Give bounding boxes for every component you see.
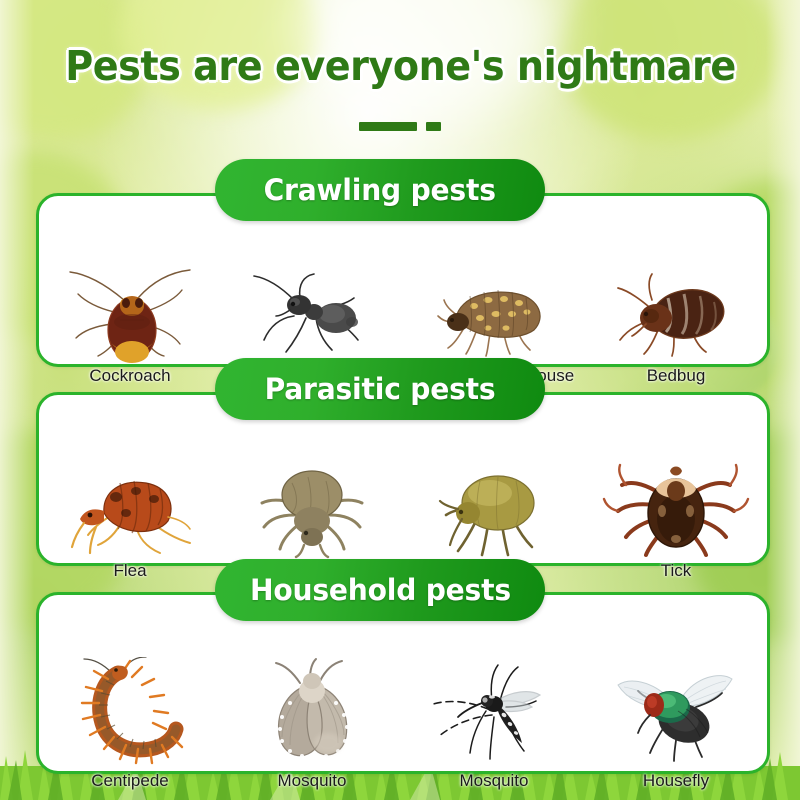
louse-icon: [232, 455, 392, 559]
pest-item-mothfly[interactable]: Mosquito: [221, 623, 403, 799]
pest-label: Flea: [113, 561, 146, 581]
poster-title-wrap: Pests are everyone's nightmare: [0, 44, 800, 88]
pest-label: Mosquito: [278, 771, 347, 791]
moth-fly-icon: [232, 657, 392, 769]
centipede-icon: [50, 657, 210, 769]
pest-label: Tick: [661, 561, 692, 581]
divider-dash-long: [359, 122, 417, 131]
section-heading-crawling[interactable]: Crawling pests: [215, 159, 545, 221]
title-divider: [0, 118, 800, 136]
section-heading-label: Crawling pests: [264, 173, 496, 207]
pest-label: Cockroach: [89, 366, 170, 386]
housefly-icon: [596, 657, 756, 769]
pest-item-tick[interactable]: Tick: [585, 421, 767, 589]
cockroach-icon: [50, 260, 210, 364]
pest-label: Centipede: [91, 771, 169, 791]
pest-item-flea[interactable]: Flea: [39, 421, 221, 589]
bedbug-icon: [596, 260, 756, 364]
tick-icon: [596, 455, 756, 559]
pest-item-mosquito[interactable]: Mosquito: [403, 623, 585, 799]
pest-item-housefly[interactable]: Housefly: [585, 623, 767, 799]
section-heading-parasitic[interactable]: Parasitic pests: [215, 358, 545, 420]
pest-infographic-poster: Pests are everyone's nightmare: [0, 0, 800, 800]
section-heading-label: Parasitic pests: [265, 372, 496, 406]
section-heading-household[interactable]: Household pests: [215, 559, 545, 621]
mite-icon: [414, 455, 574, 559]
page-title: Pests are everyone's nightmare: [65, 44, 736, 88]
pest-label: Housefly: [643, 771, 709, 791]
pest-label: Mosquito: [460, 771, 529, 791]
pillbug-icon: [414, 260, 574, 364]
pest-label: Bedbug: [647, 366, 706, 386]
mosquito-icon: [414, 657, 574, 769]
pest-item-cockroach[interactable]: Cockroach: [39, 226, 221, 394]
ant-icon: [232, 260, 392, 364]
pest-row-household: Centipede: [39, 595, 767, 799]
pest-item-centipede[interactable]: Centipede: [39, 623, 221, 799]
pest-item-bedbug[interactable]: Bedbug: [585, 226, 767, 394]
flea-icon: [50, 455, 210, 559]
divider-dash-short: [426, 122, 441, 131]
section-heading-label: Household pests: [250, 573, 511, 607]
